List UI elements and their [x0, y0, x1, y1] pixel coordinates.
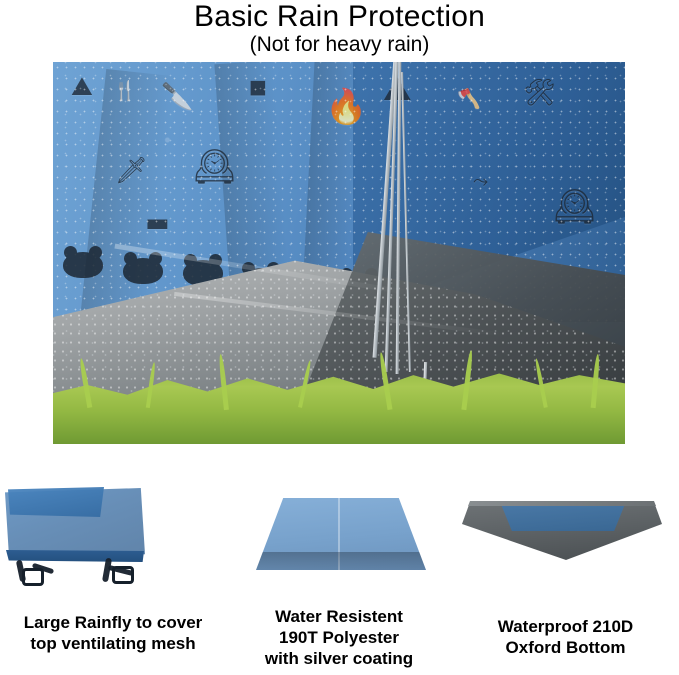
caption-fabric: Water Resistent 190T Polyester with silv…	[226, 606, 452, 669]
bear-face-motif-icon	[63, 252, 103, 278]
caption-rainfly: Large Rainfly to cover top ventilating m…	[0, 612, 226, 654]
feature-caption-row: Large Rainfly to cover top ventilating m…	[0, 612, 679, 675]
feature-thumbnail-fabric	[226, 470, 452, 600]
panel-hem	[256, 552, 426, 570]
folded-rainfly-flap	[8, 487, 104, 517]
hero-product-photo: ⛰ 🍴 🔪 ■ 🔥 🕰 🗡 ▬ ⛰ 🪓 🛠 🕰 ⤳ ROAR	[53, 62, 625, 444]
page-title: Basic Rain Protection	[0, 2, 679, 32]
feature-thumbnail-bottom	[452, 470, 679, 600]
caption-line: Oxford Bottom	[452, 637, 679, 658]
tarp-top-edge	[462, 501, 662, 506]
buckle	[22, 568, 44, 586]
feature-thumbnail-row	[0, 470, 679, 610]
bear-face-motif-icon	[123, 258, 163, 284]
buckle	[112, 566, 134, 584]
caption-line: top ventilating mesh	[0, 633, 226, 654]
rainfly-above-bottom	[492, 503, 634, 531]
caption-line: Waterproof 210D	[452, 616, 679, 637]
feature-thumbnail-rainfly	[0, 470, 226, 600]
caption-line: with silver coating	[226, 648, 452, 669]
caption-line: Large Rainfly to cover	[0, 612, 226, 633]
product-feature-panel: Basic Rain Protection (Not for heavy rai…	[0, 0, 679, 675]
folded-rainfly-hem	[6, 550, 144, 562]
caption-line: 190T Polyester	[226, 627, 452, 648]
page-subtitle: (Not for heavy rain)	[0, 34, 679, 56]
caption-line: Water Resistent	[226, 606, 452, 627]
caption-bottom: Waterproof 210D Oxford Bottom	[452, 616, 679, 658]
